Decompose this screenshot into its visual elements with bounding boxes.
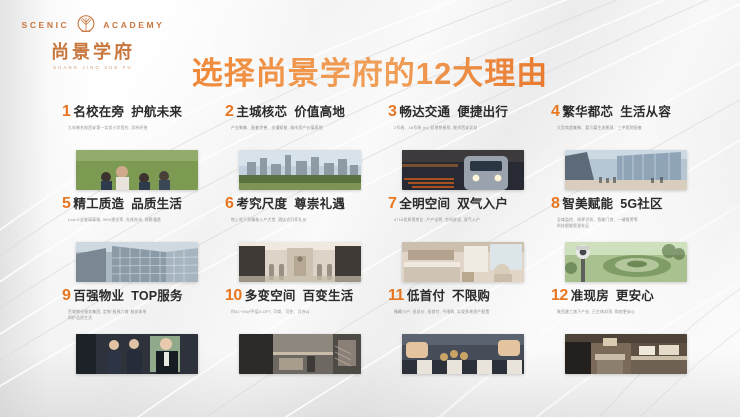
reason-card-3: 3畅达交通便捷出行2号线、16号线 (in) 双地铁接驳, 毗邻西安北站 [384,104,545,196]
metro-train-station-photo-svg [402,150,524,190]
reason-card-11: 11低首付不限购臻藏小户, 低总价, 低首付, 不限购, 实现多地资产配置 [384,288,545,380]
reason-subtitle-1: 九年制名校西安第一实验小学签约, 学府环绕 [68,126,208,132]
reason-subtitle-3: 2号线、16号线 (in) 双地铁接驳, 毗邻西安北站 [394,126,534,132]
reason-number-8: 8 [551,196,559,212]
reason-title-secondary-2: 价值高地 [294,106,345,119]
reason-subtitle-10: 约41~93㎡平层/LOFT, 可商、可住、可办公 [231,310,371,316]
logo-en-right: ACADEMY [103,20,164,30]
reason-subtitle-11: 臻藏小户, 低总价, 低首付, 不限购, 实现多地资产配置 [394,310,534,316]
reason-heading-11: 11低首付不限购 [388,288,545,304]
reason-subtitle-9: 百城物业服务集团, 定制"极致六维"服务体系呵护品质生活 [68,310,208,322]
reason-title-secondary-7: 双气入户 [457,198,508,211]
reason-photo-5 [76,242,198,282]
reason-title-primary-10: 多变空间 [245,290,296,303]
reasons-grid: 1名校在旁护航未来九年制名校西安第一实验小学签约, 学府环绕2主城核芯价值高地产… [58,104,708,380]
city-skyline-park-photo-svg [239,150,361,190]
smart-community-camera-photo-svg [565,242,687,282]
logo-english-row: SCENIC ACADEMY [28,14,158,36]
reason-photo-4 [565,150,687,190]
reason-title-secondary-9: TOP服务 [131,290,182,303]
reason-title-primary-12: 准现房 [571,290,609,303]
lobby-entrance-gates-photo-svg [239,242,361,282]
kitchen-dining-interior-photo-svg [565,334,687,374]
reason-title-primary-5: 精工质造 [73,198,124,211]
reason-number-9: 9 [62,288,70,304]
reason-heading-3: 3畅达交通便捷出行 [388,104,545,120]
reason-card-7: 7全明空间双气入户4716优质得房比, 户户全明, 空间舒适, 双气入户 [384,196,545,288]
logo-en-left: SCENIC [22,20,70,30]
students-outdoor-class-photo-svg [76,150,198,190]
reason-card-4: 4繁华都芯生活从容大型商超集聚、要万篇生态景观、三甲医院配套 [547,104,708,196]
reason-card-2: 2主城核芯价值高地产业聚集、配套完善、交通赋能, 城市资产价值高地 [221,104,382,196]
reason-photo-6 [239,242,361,282]
shopping-mall-plaza-photo-svg [565,150,687,190]
reason-number-2: 2 [225,104,233,120]
reason-photo-1 [76,150,198,190]
reason-card-8: 8智美赋能5G社区全域监控、周界识别、智能门禁、一键报警等科技赋能智慧社区 [547,196,708,288]
reason-number-11: 11 [388,288,404,304]
reason-card-5: 5精工质造品质生活Low-E全玻璃幕墙, 95%透光率, 光线充沛, 视野通透 [58,196,219,288]
reason-title-secondary-10: 百变生活 [303,290,354,303]
reason-heading-5: 5精工质造品质生活 [62,196,219,212]
reason-title-secondary-1: 护航未来 [131,106,182,119]
reason-title-secondary-12: 更安心 [616,290,654,303]
reason-card-12: 12准现房更安心陕西建工旗下产业, 已主体封顶, 购房更安心 [547,288,708,380]
reason-heading-12: 12准现房更安心 [551,288,708,304]
reason-title-secondary-11: 不限购 [452,290,490,303]
loft-duplex-interior-photo-svg [239,334,361,374]
reason-card-6: 6考究尺度尊崇礼遇地上地下双精装入户大堂, 酒店式归家礼仪 [221,196,382,288]
chess-investment-hands-photo-svg [402,334,524,374]
reason-number-12: 12 [551,288,568,304]
property-staff-welcome-photo-svg [76,334,198,374]
reason-title-primary-3: 畅达交通 [399,106,450,119]
reason-photo-11 [402,334,524,374]
reason-title-secondary-8: 5G社区 [620,198,662,211]
reason-title-secondary-5: 品质生活 [131,198,182,211]
reason-photo-9 [76,334,198,374]
tree-icon [75,14,97,36]
reason-subtitle-7: 4716优质得房比, 户户全明, 空间舒适, 双气入户 [394,218,534,224]
reason-subtitle-12: 陕西建工旗下产业, 已主体封顶, 购房更安心 [557,310,697,316]
reason-heading-9: 9百强物业TOP服务 [62,288,219,304]
reason-photo-2 [239,150,361,190]
reason-subtitle-4: 大型商超集聚、要万篇生态景观、三甲医院配套 [557,126,697,132]
tree-icon-svg [75,14,97,36]
reason-title-secondary-6: 尊崇礼遇 [294,198,345,211]
reason-number-6: 6 [225,196,233,212]
reason-card-9: 9百强物业TOP服务百城物业服务集团, 定制"极致六维"服务体系呵护品质生活 [58,288,219,380]
reason-number-7: 7 [388,196,396,212]
reason-photo-7 [402,242,524,282]
reason-number-3: 3 [388,104,396,120]
reason-title-secondary-4: 生活从容 [620,106,671,119]
reason-heading-10: 10多变空间百变生活 [225,288,382,304]
reason-photo-3 [402,150,524,190]
reason-heading-4: 4繁华都芯生活从容 [551,104,708,120]
reason-title-primary-11: 低首付 [407,290,445,303]
reason-heading-1: 1名校在旁护航未来 [62,104,219,120]
reason-photo-8 [565,242,687,282]
reason-title-secondary-3: 便捷出行 [457,106,508,119]
reason-photo-12 [565,334,687,374]
reason-card-10: 10多变空间百变生活约41~93㎡平层/LOFT, 可商、可住、可办公 [221,288,382,380]
reason-title-primary-2: 主城核芯 [236,106,287,119]
reason-number-10: 10 [225,288,242,304]
glass-curtain-wall-building-photo-svg [76,242,198,282]
reason-number-5: 5 [62,196,70,212]
reason-title-primary-8: 智美赋能 [562,198,613,211]
reason-number-1: 1 [62,104,70,120]
reason-heading-7: 7全明空间双气入户 [388,196,545,212]
reason-title-primary-7: 全明空间 [399,198,450,211]
reason-heading-2: 2主城核芯价值高地 [225,104,382,120]
reason-subtitle-5: Low-E全玻璃幕墙, 95%透光率, 光线充沛, 视野通透 [68,218,208,224]
page-title: 选择尚景学府的12大理由 [0,48,740,93]
reason-subtitle-2: 产业聚集、配套完善、交通赋能, 城市资产价值高地 [231,126,371,132]
reason-heading-6: 6考究尺度尊崇礼遇 [225,196,382,212]
reason-subtitle-8: 全域监控、周界识别、智能门禁、一键报警等科技赋能智慧社区 [557,218,697,230]
reason-card-1: 1名校在旁护航未来九年制名校西安第一实验小学签约, 学府环绕 [58,104,219,196]
reason-heading-8: 8智美赋能5G社区 [551,196,708,212]
reason-subtitle-6: 地上地下双精装入户大堂, 酒店式归家礼仪 [231,218,371,224]
reason-title-primary-6: 考究尺度 [236,198,287,211]
reason-photo-10 [239,334,361,374]
bedroom-interior-photo-svg [402,242,524,282]
reason-title-primary-1: 名校在旁 [73,106,124,119]
reason-title-primary-4: 繁华都芯 [562,106,613,119]
reason-title-primary-9: 百强物业 [73,290,124,303]
reason-number-4: 4 [551,104,559,120]
